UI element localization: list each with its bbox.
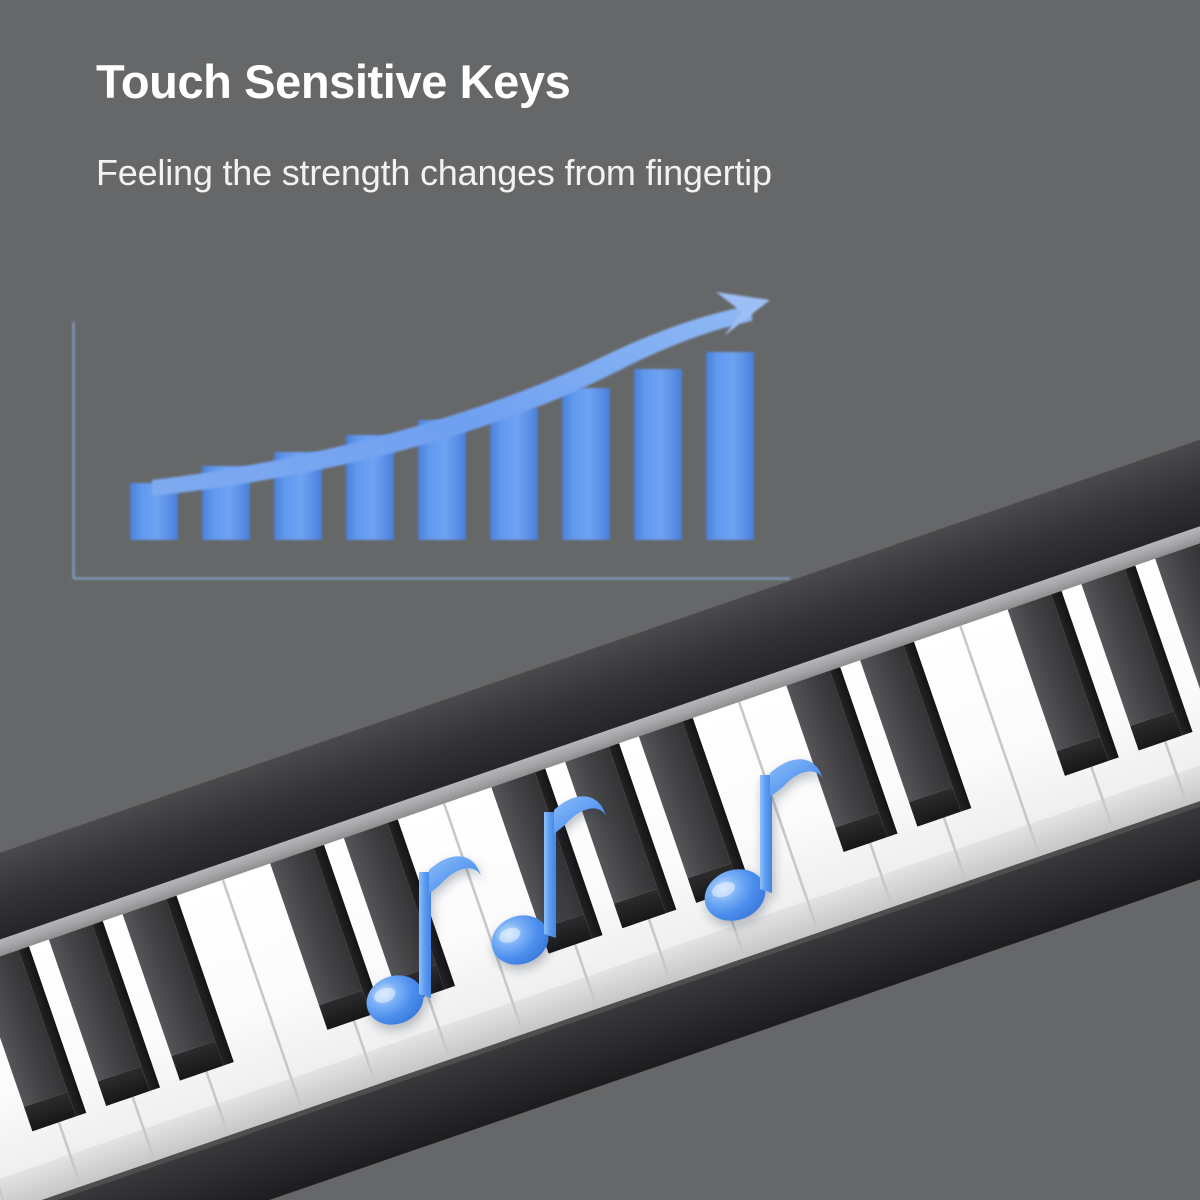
- eighth-note-2: [485, 796, 606, 972]
- eighth-note-3: [697, 759, 823, 929]
- product-feature-panel: Touch Sensitive Keys Feeling the strengt…: [0, 0, 1200, 1200]
- page-subtitle: Feeling the strength changes from finger…: [96, 155, 1096, 191]
- page-title: Touch Sensitive Keys: [96, 58, 1096, 105]
- eighth-note-1: [360, 856, 481, 1032]
- headline-block: Touch Sensitive Keys Feeling the strengt…: [96, 58, 1096, 191]
